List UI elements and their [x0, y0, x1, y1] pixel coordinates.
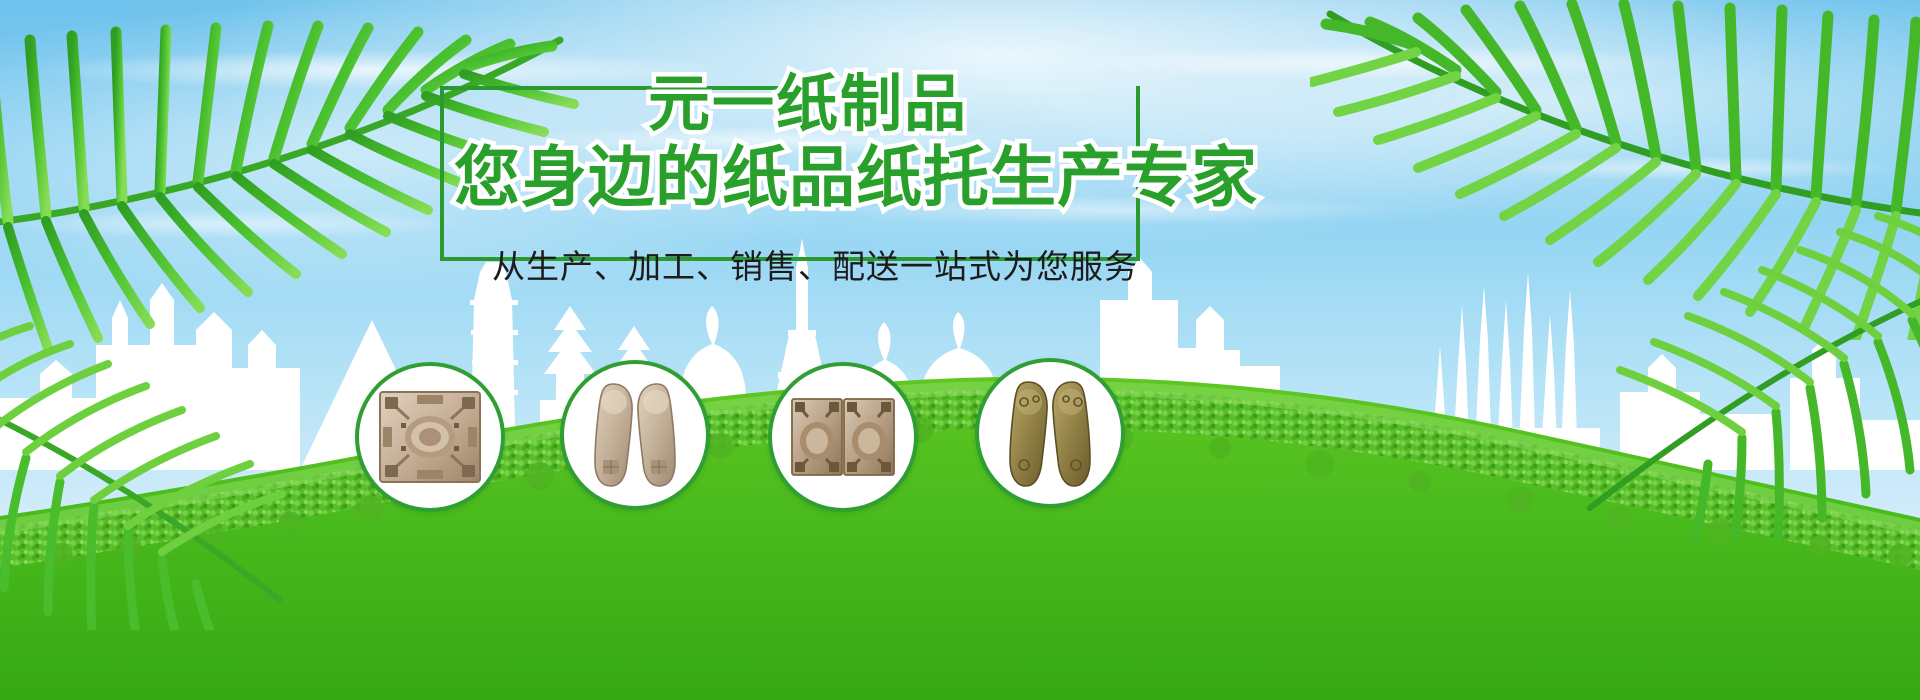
paper-pulp-dark-shoe-tray-icon — [1002, 374, 1098, 492]
product-showcase: 方形纸浆模塑托盘 — [355, 352, 1165, 517]
headline-block: 元一纸制品 您身边的纸品纸托生产专家 — [440, 86, 1140, 261]
palm-leaf-icon — [0, 300, 300, 630]
paper-pulp-double-tray-icon — [790, 389, 896, 485]
paper-pulp-square-tray-icon — [377, 389, 483, 485]
product-circle[interactable]: 双格纸浆模塑托盘 — [768, 362, 918, 512]
palm-leaf-icon — [1570, 210, 1920, 540]
page-subtitle: 从生产、加工、销售、配送一站式为您服务 — [492, 240, 1138, 288]
promo-banner: 元一纸制品 您身边的纸品纸托生产专家 从生产、加工、销售、配送一站式为您服务 — [0, 0, 1920, 700]
paper-pulp-shoe-tray-icon — [587, 376, 683, 494]
brand-title: 元一纸制品 — [648, 70, 968, 138]
page-headline: 您身边的纸品纸托生产专家 — [454, 142, 1258, 214]
product-circle[interactable]: 鞋型纸托一对 — [560, 360, 710, 510]
product-circle[interactable]: 深色鞋型纸托一对 — [975, 358, 1125, 508]
product-circle[interactable]: 方形纸浆模塑托盘 — [355, 362, 505, 512]
